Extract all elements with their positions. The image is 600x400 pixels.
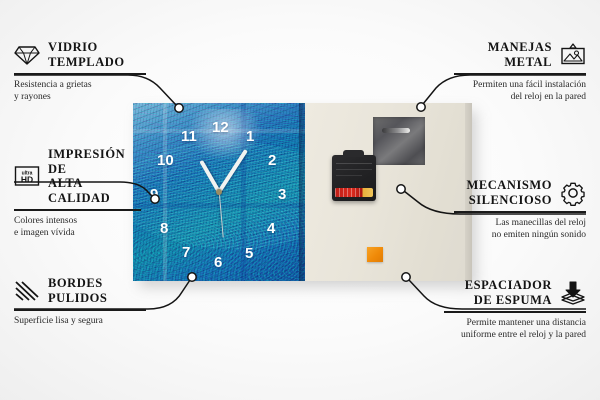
clock-face-front: 12 1 2 3 4 5 6 7 8 9 10 11 [133, 103, 305, 281]
mechanism-tab [343, 150, 364, 157]
clock-numeral-3: 3 [278, 187, 286, 202]
feature-title-line2: METAL [488, 55, 552, 70]
diagonal-stripes-icon [14, 280, 40, 302]
feature-desc-line2: del reloj en la pared [454, 91, 586, 104]
feature-rule [454, 73, 586, 75]
feature-rule [14, 309, 146, 311]
clock-numeral-6: 6 [214, 255, 222, 270]
feature-rule [454, 211, 586, 213]
feature-title-line1: ESPACIADOR [465, 278, 552, 293]
clock-numeral-1: 1 [246, 129, 254, 144]
feature-desc-line1: Las manecillas del reloj [454, 217, 586, 230]
mechanism-detail [336, 163, 372, 164]
feature-title-line2: PULIDOS [48, 291, 107, 306]
feature-title-line1: MECANISMO [466, 178, 552, 193]
feature-mecanismo-silencioso: MECANISMO SILENCIOSO Las manecillas del … [454, 178, 586, 242]
clock-center-cap [216, 189, 222, 195]
clock-numeral-10: 10 [157, 153, 174, 168]
feature-desc-line2: uniforme entre el reloj y la pared [444, 329, 586, 342]
ultra-hd-icon: ultra HD [14, 165, 40, 187]
feature-bordes-pulidos: BORDES PULIDOS Superficie lisa y segura [14, 276, 146, 327]
feature-desc-line1: Colores intensos [14, 215, 141, 228]
feature-title-line2: SILENCIOSO [466, 193, 552, 208]
feature-title-line2: ALTA CALIDAD [48, 176, 141, 205]
product-images: 12 1 2 3 4 5 6 7 8 9 10 11 [133, 103, 472, 281]
clock-numeral-4: 4 [267, 221, 275, 236]
clock-numeral-5: 5 [245, 246, 253, 261]
feature-impresion-alta-calidad: ultra HD IMPRESIÓN DE ALTA CALIDAD Color… [14, 147, 141, 240]
gear-icon [560, 180, 586, 206]
feature-espaciador-espuma: ESPACIADOR DE ESPUMA Permite mantener un… [444, 278, 586, 342]
picture-frame-hook-icon [560, 43, 586, 67]
feature-vidrio-templado: VIDRIO TEMPLADO Resistencia a grietas y … [14, 40, 146, 104]
mechanism-detail [336, 175, 362, 176]
feature-title-line1: VIDRIO [48, 40, 125, 55]
feature-desc-line1: Permite mantener una distancia [444, 317, 586, 330]
foam-spacer [367, 247, 383, 262]
metal-hanger-plate [373, 117, 425, 165]
clock-numeral-8: 8 [160, 221, 168, 236]
feature-desc-line1: Permiten una fácil instalación [454, 79, 586, 92]
down-arrow-stack-icon [560, 281, 586, 305]
clock-numeral-12: 12 [212, 120, 229, 135]
clock-back-view [305, 103, 472, 281]
clock-numeral-7: 7 [182, 245, 190, 260]
feature-title-line1: IMPRESIÓN DE [48, 147, 141, 176]
feature-title-line1: MANEJAS [488, 40, 552, 55]
diamond-icon [14, 44, 40, 66]
feature-manejas-metal: MANEJAS METAL Permiten una fácil instala… [454, 40, 586, 104]
feature-rule [14, 209, 141, 211]
feature-rule [444, 311, 586, 313]
feature-title-line1: BORDES [48, 276, 107, 291]
feature-desc-line2: e imagen vívida [14, 227, 141, 240]
feature-desc-line2: no emiten ningún sonido [454, 229, 586, 242]
quartz-mechanism-box [332, 155, 376, 201]
clock-numeral-9: 9 [150, 187, 158, 202]
feature-desc-line1: Resistencia a grietas [14, 79, 146, 92]
mechanism-detail [336, 169, 372, 170]
battery-label-ticks [335, 188, 362, 197]
feature-title-line2: DE ESPUMA [465, 293, 552, 308]
clock-numeral-11: 11 [181, 129, 197, 144]
clock-numeral-2: 2 [268, 153, 276, 168]
ultra-hd-icon-bottom-label: HD [21, 175, 33, 185]
feature-desc-line1: Superficie lisa y segura [14, 315, 146, 328]
feature-title-line2: TEMPLADO [48, 55, 125, 70]
hanger-slot [382, 128, 410, 133]
infographic-canvas: 12 1 2 3 4 5 6 7 8 9 10 11 [0, 0, 600, 400]
feature-desc-line2: y rayones [14, 91, 146, 104]
feature-rule [14, 73, 146, 75]
